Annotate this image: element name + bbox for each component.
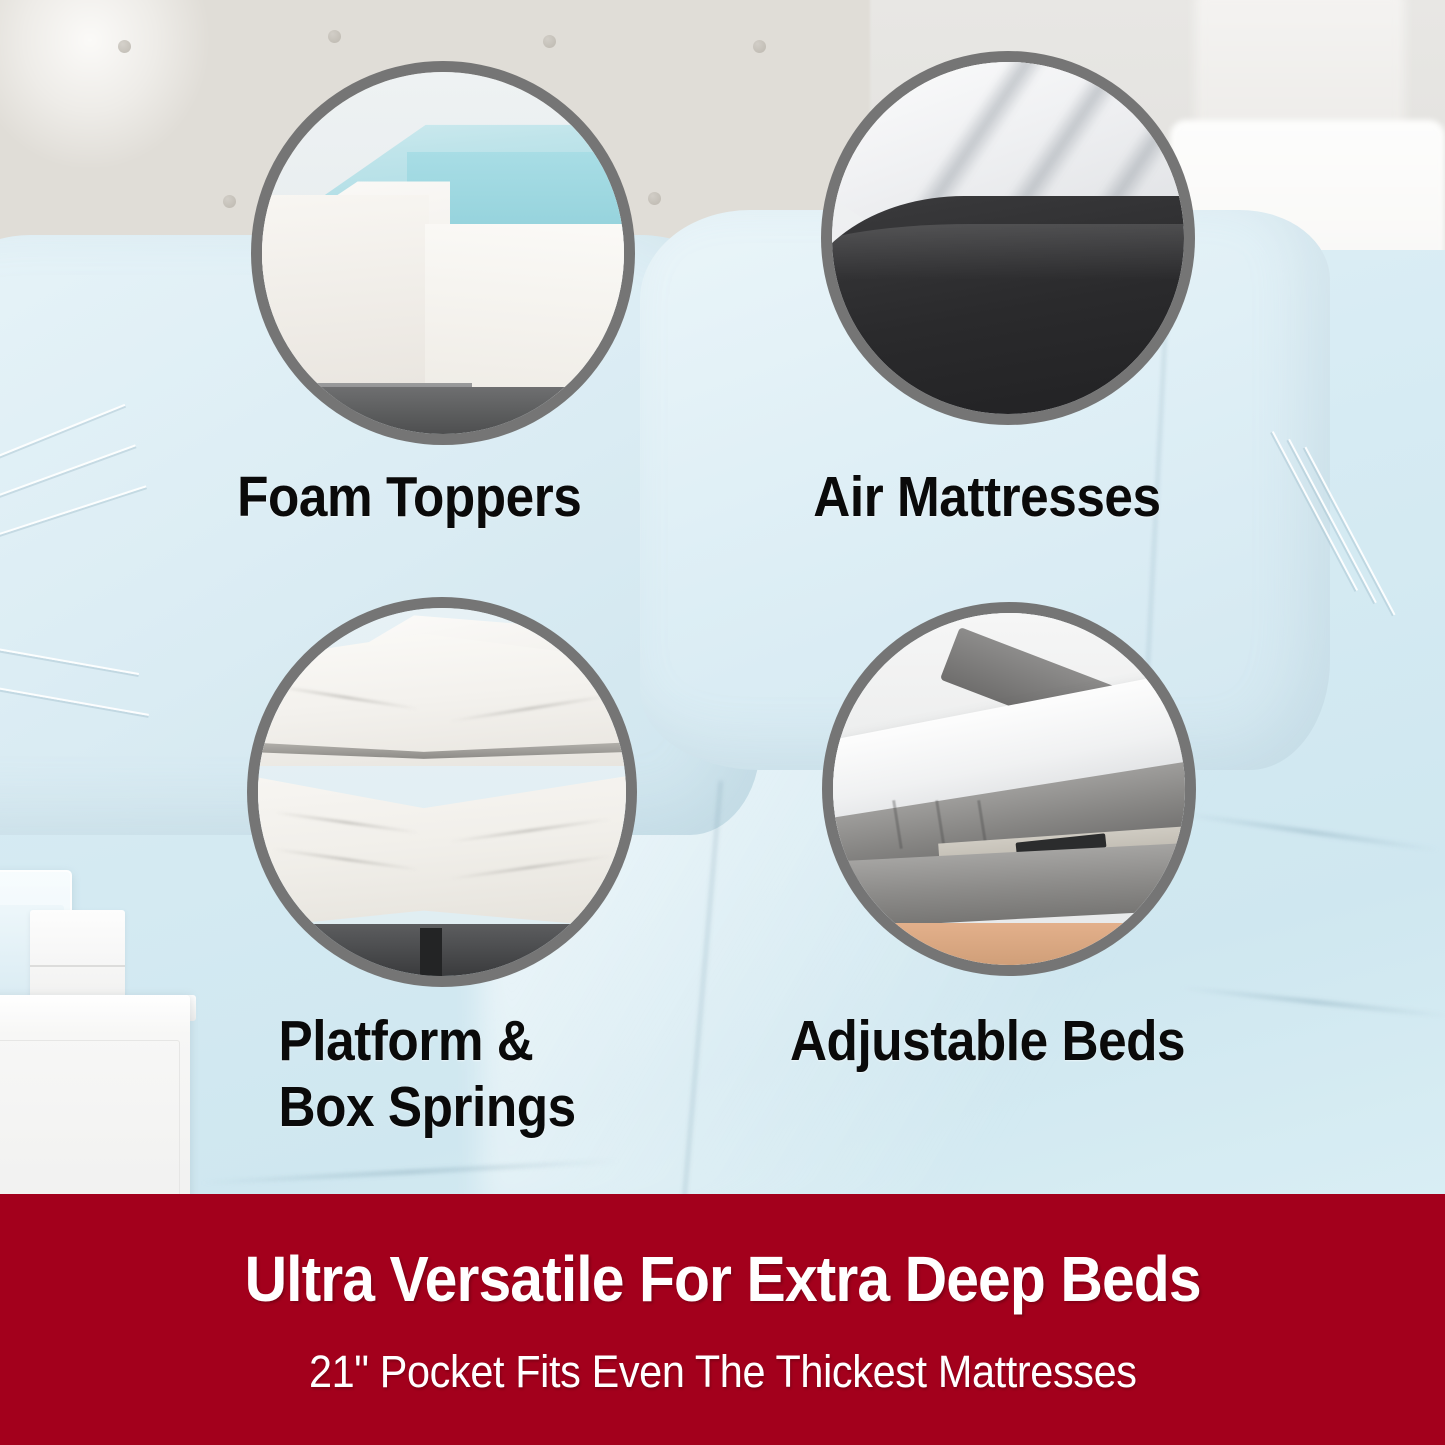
callout-label-line: Air Mattresses <box>813 468 1160 526</box>
gel-foam-topper-corner-icon <box>262 72 624 434</box>
banner-subheadline: 21" Pocket Fits Even The Thickest Mattre… <box>309 1346 1137 1398</box>
product-feature-image: Foam Toppers Air Mattresses <box>0 0 1445 1445</box>
callout-circle-platform-box-springs <box>258 608 626 976</box>
callout-circle-foam-toppers <box>262 72 624 434</box>
callout-label-line: Foam Toppers <box>237 468 581 526</box>
promo-banner: Ultra Versatile For Extra Deep Beds 21" … <box>0 1194 1445 1445</box>
callout-label-line: Box Springs <box>279 1078 576 1136</box>
callout-label-air-mattresses: Air Mattresses <box>813 468 1160 526</box>
box-spring-corner-icon <box>258 608 626 976</box>
banner-headline: Ultra Versatile For Extra Deep Beds <box>244 1242 1200 1316</box>
book-divider-line <box>30 965 125 967</box>
callout-label-platform-box-springs: Platform & Box Springs <box>279 1012 576 1136</box>
callout-label-adjustable-beds: Adjustable Beds <box>790 1012 1185 1070</box>
callout-circle-air-mattresses <box>832 62 1184 414</box>
callout-label-line: Adjustable Beds <box>790 1012 1185 1070</box>
callout-label-foam-toppers: Foam Toppers <box>237 468 581 526</box>
nightstand-drawer-panel <box>0 1040 180 1202</box>
air-mattress-corner-icon <box>832 62 1184 414</box>
callout-label-line: Platform & <box>279 1012 576 1070</box>
callout-circle-adjustable-beds <box>833 613 1185 965</box>
adjustable-bed-icon <box>833 613 1185 965</box>
